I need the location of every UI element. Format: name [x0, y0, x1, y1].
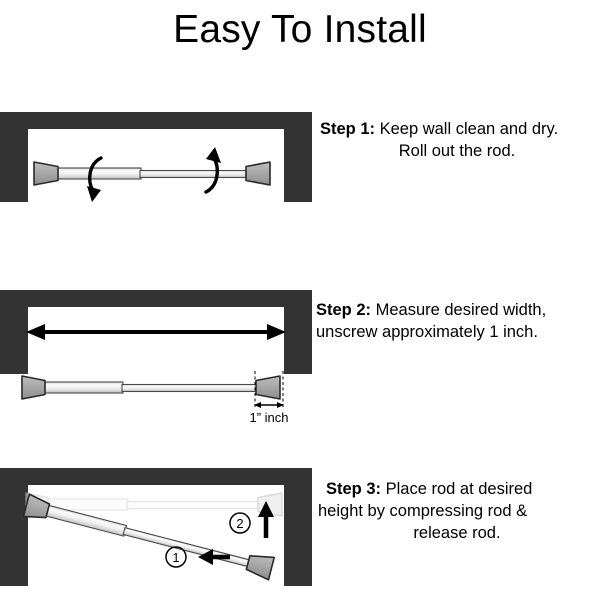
- wall-post-right: [284, 112, 312, 202]
- rod-rolling-in-doorway-illustration: [0, 108, 312, 218]
- wall-post-right: [284, 468, 312, 586]
- wall-lintel: [0, 468, 312, 485]
- step-row-3: 1 2 Step 3: Place rod at desired height …: [0, 460, 600, 600]
- step-1-label: Step 1:: [320, 120, 375, 138]
- marker-2-number: 2: [236, 516, 243, 531]
- step-1-line-2: Roll out the rod.: [399, 142, 515, 160]
- step-2-line-2: unscrew approximately 1 inch.: [316, 323, 538, 341]
- wall-lintel: [0, 112, 312, 129]
- rod-inner-tube: [122, 385, 256, 392]
- tension-rod: [22, 376, 280, 399]
- measure-extent-arrow: [254, 402, 284, 408]
- rod-cap-right: [245, 551, 274, 579]
- measure-width-illustration: 1” inch: [0, 285, 330, 445]
- step-3-line-3: release rod.: [413, 524, 500, 542]
- width-arrow-head-left: [26, 324, 45, 340]
- tension-rod: [34, 162, 270, 185]
- doorway-frame: [0, 112, 312, 202]
- rod-cap-left: [34, 162, 58, 185]
- measure-label: 1” inch: [249, 410, 288, 425]
- curved-arrow-up-head: [206, 147, 221, 163]
- curved-arrow-down-head: [87, 186, 101, 202]
- wall-post-left: [0, 290, 28, 374]
- rod-outer-tube: [45, 382, 123, 393]
- marker-1-number: 1: [172, 550, 179, 565]
- wall-post-left: [0, 468, 28, 586]
- rod-cap-right: [256, 376, 280, 399]
- marker-1: 1: [166, 547, 186, 567]
- rod-cap-left: [22, 376, 45, 399]
- step-row-2: 1” inch Step 2: Measure desired width, u…: [0, 285, 600, 445]
- step-3-line-2: height by compressing rod &: [318, 502, 527, 520]
- wall-lintel: [0, 290, 312, 307]
- step-3-label: Step 3:: [326, 480, 381, 498]
- step-3-text: Step 3: Place rod at desired height by c…: [318, 478, 596, 544]
- page-title: Easy To Install: [0, 8, 600, 52]
- step-1-diagram: [0, 108, 312, 218]
- step-2-text: Step 2: Measure desired width, unscrew a…: [316, 299, 598, 343]
- step-2-line-1: Measure desired width,: [371, 301, 546, 319]
- rod-outer-tube: [58, 168, 141, 179]
- step-2-label: Step 2:: [316, 301, 371, 319]
- compress-release-illustration: 1 2: [0, 460, 312, 600]
- width-arrow-head-right: [267, 324, 286, 340]
- step-1-text: Step 1: Keep wall clean and dry. Roll ou…: [318, 118, 596, 162]
- rod-inner-tube: [140, 171, 246, 178]
- step-3-line-1: Place rod at desired: [381, 480, 532, 498]
- step-2-diagram: 1” inch: [0, 285, 330, 445]
- wall-post-right: [284, 290, 312, 374]
- step-1-line-1: Keep wall clean and dry.: [375, 120, 558, 138]
- rod-cap-right: [246, 162, 270, 185]
- double-headed-arrow-icon: [26, 324, 286, 340]
- wall-post-left: [0, 112, 28, 202]
- step-3-diagram: 1 2: [0, 460, 312, 600]
- step-row-1: Step 1: Keep wall clean and dry. Roll ou…: [0, 108, 600, 218]
- marker-2: 2: [230, 513, 250, 533]
